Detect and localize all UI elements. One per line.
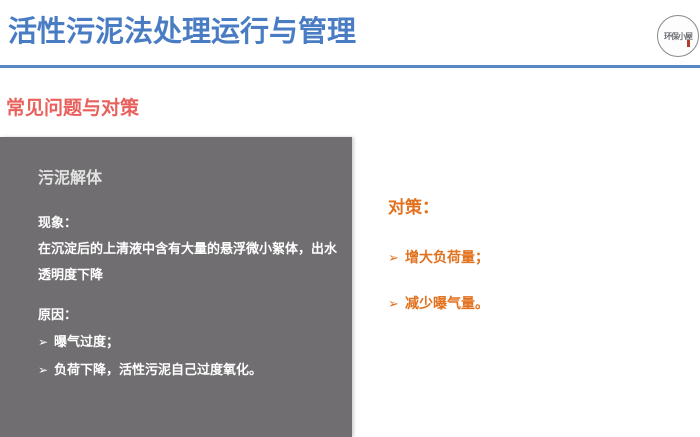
cause-item-text: 曝气过度； — [54, 328, 119, 356]
arrow-bullet-icon: ➢ — [38, 356, 54, 384]
problem-panel: 污泥解体 现象： 在沉淀后的上清液中含有大量的悬浮微小絮体，出水透明度下降 原因… — [0, 137, 352, 437]
solution-spacer — [388, 220, 678, 247]
problem-panel-body: 现象： 在沉淀后的上清液中含有大量的悬浮微小絮体，出水透明度下降 原因： ➢ 曝… — [38, 210, 338, 384]
section-subtitle: 常见问题与对策 — [6, 95, 139, 123]
circular-seal-logo: 环保小屋 — [657, 15, 699, 57]
arrow-bullet-icon: ➢ — [388, 248, 405, 268]
solution-heading: 对策： — [388, 196, 678, 220]
list-item: ➢ 曝气过度； — [38, 328, 338, 356]
cause-label: 原因： — [38, 302, 338, 328]
list-item: ➢ 减少曝气量。 — [388, 293, 678, 314]
problem-panel-heading: 污泥解体 — [38, 168, 102, 190]
solution-spacer — [388, 268, 678, 293]
cause-item-text: 负荷下降，活性污泥自己过度氧化。 — [54, 356, 262, 384]
phenomenon-label: 现象： — [38, 210, 338, 236]
page-title: 活性污泥法处理运行与管理 — [8, 12, 356, 52]
list-item: ➢ 负荷下降，活性污泥自己过度氧化。 — [38, 356, 338, 384]
phenomenon-text: 在沉淀后的上清液中含有大量的悬浮微小絮体，出水透明度下降 — [38, 236, 338, 288]
panel-spacer — [38, 288, 338, 302]
solution-column: 对策： ➢ 增大负荷量； ➢ 减少曝气量。 — [388, 196, 678, 314]
arrow-bullet-icon: ➢ — [388, 294, 405, 314]
seal-logo-text: 环保小屋 — [658, 16, 698, 56]
seal-red-mark-icon — [687, 40, 690, 47]
solution-item-text: 减少曝气量。 — [405, 293, 489, 313]
arrow-bullet-icon: ➢ — [38, 328, 54, 356]
header-divider — [0, 65, 700, 68]
list-item: ➢ 增大负荷量； — [388, 247, 678, 268]
solution-item-text: 增大负荷量； — [405, 247, 489, 267]
